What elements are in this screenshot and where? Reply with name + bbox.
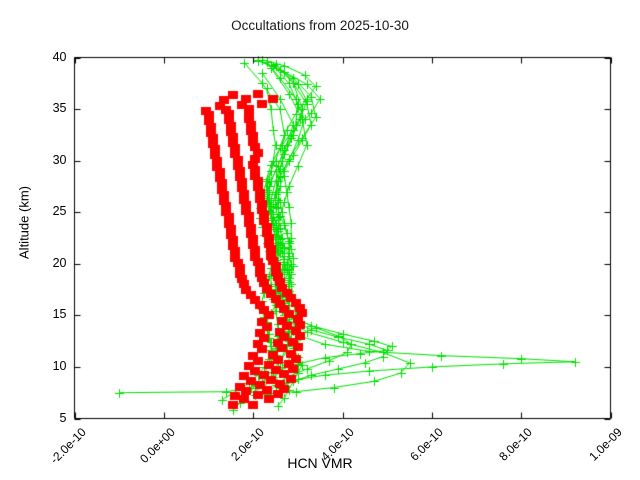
- y-tick-label: 40: [21, 50, 67, 64]
- y-tick-label: 35: [21, 101, 67, 115]
- y-tick-label: 30: [21, 153, 67, 167]
- page-title: Occultations from 2025-10-30: [0, 18, 640, 33]
- y-tick-label: 10: [21, 359, 67, 373]
- occultations-scatter-plot: [0, 0, 640, 480]
- chart-page: Occultations from 2025-10-30 HCN VMR Alt…: [0, 0, 640, 480]
- y-axis-label: Altitude (km): [17, 153, 32, 293]
- y-tick-label: 15: [21, 307, 67, 321]
- y-tick-label: 25: [21, 204, 67, 218]
- y-tick-label: 20: [21, 256, 67, 270]
- y-tick-label: 5: [21, 411, 67, 425]
